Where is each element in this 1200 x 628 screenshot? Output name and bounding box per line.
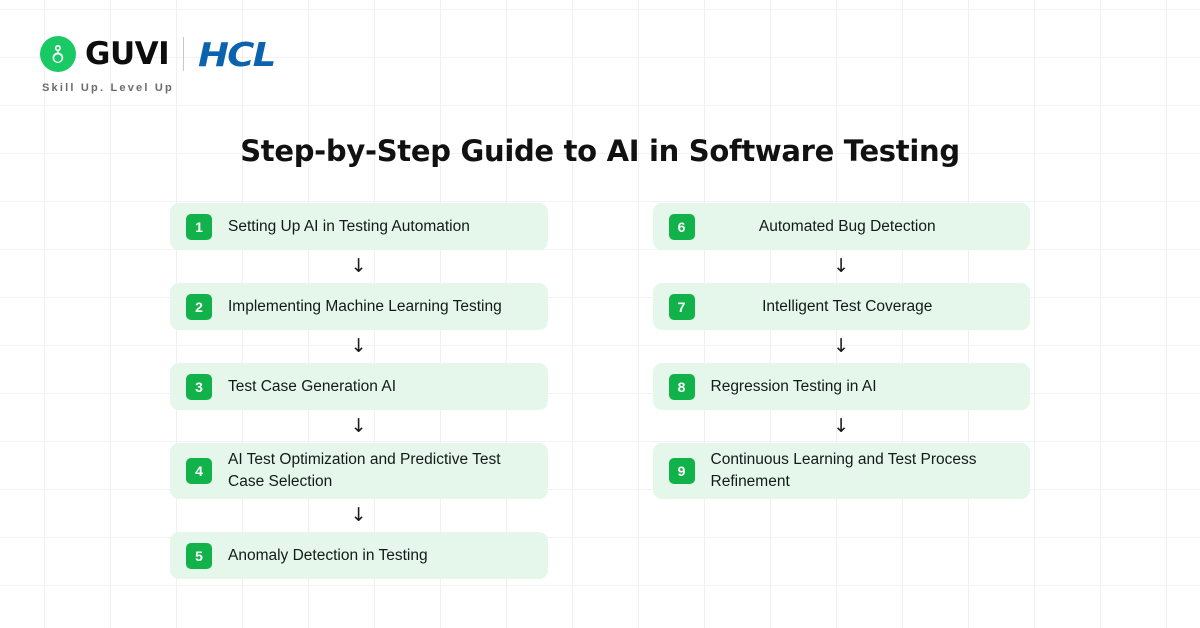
flow-column-left: 1 Setting Up AI in Testing Automation ↓ …	[170, 203, 548, 579]
flow-arrow-down-icon: ↓	[170, 330, 548, 363]
step-label: Test Case Generation AI	[228, 376, 396, 398]
step-label: AI Test Optimization and Predictive Test…	[228, 449, 534, 493]
step-card-7[interactable]: 7 Intelligent Test Coverage	[653, 283, 1031, 330]
brand-logo-bar: GUVI HCL Skill Up. Level Up	[40, 33, 267, 94]
step-label: Regression Testing in AI	[711, 376, 877, 398]
flow-arrow-down-icon: ↓	[653, 330, 1031, 363]
guvi-wordmark: GUVI	[85, 39, 169, 70]
step-card-9[interactable]: 9 Continuous Learning and Test Process R…	[653, 443, 1031, 499]
step-card-2[interactable]: 2 Implementing Machine Learning Testing	[170, 283, 548, 330]
flow-arrow-down-icon: ↓	[170, 499, 548, 532]
step-card-4[interactable]: 4 AI Test Optimization and Predictive Te…	[170, 443, 548, 499]
hcl-wordmark: HCL	[198, 38, 275, 71]
step-card-5[interactable]: 5 Anomaly Detection in Testing	[170, 532, 548, 579]
logo-row: GUVI HCL	[40, 33, 267, 75]
process-flow-diagram: 1 Setting Up AI in Testing Automation ↓ …	[170, 203, 1030, 579]
step-card-6[interactable]: 6 Automated Bug Detection	[653, 203, 1031, 250]
step-label: Anomaly Detection in Testing	[228, 545, 428, 567]
flow-arrow-down-icon: ↓	[653, 410, 1031, 443]
step-number-badge: 9	[669, 458, 695, 484]
step-card-3[interactable]: 3 Test Case Generation AI	[170, 363, 548, 410]
page-title: Step-by-Step Guide to AI in Software Tes…	[0, 134, 1200, 168]
step-number-badge: 6	[669, 214, 695, 240]
logo-divider	[183, 37, 184, 71]
step-number-badge: 3	[186, 374, 212, 400]
step-card-1[interactable]: 1 Setting Up AI in Testing Automation	[170, 203, 548, 250]
step-label: Automated Bug Detection	[705, 216, 991, 238]
flow-arrow-down-icon: ↓	[170, 250, 548, 283]
step-label: Setting Up AI in Testing Automation	[228, 216, 470, 238]
step-number-badge: 1	[186, 214, 212, 240]
step-label: Continuous Learning and Test Process Ref…	[711, 449, 1017, 493]
step-number-badge: 2	[186, 294, 212, 320]
brand-tagline: Skill Up. Level Up	[42, 82, 174, 94]
step-card-8[interactable]: 8 Regression Testing in AI	[653, 363, 1031, 410]
step-number-badge: 4	[186, 458, 212, 484]
flow-column-right: 6 Automated Bug Detection ↓ 7 Intelligen…	[653, 203, 1031, 579]
step-number-badge: 8	[669, 374, 695, 400]
step-number-badge: 7	[669, 294, 695, 320]
step-number-badge: 5	[186, 543, 212, 569]
flow-arrow-down-icon: ↓	[170, 410, 548, 443]
flow-arrow-down-icon: ↓	[653, 250, 1031, 283]
step-label: Implementing Machine Learning Testing	[228, 296, 502, 318]
step-label: Intelligent Test Coverage	[705, 296, 991, 318]
guvi-g-icon	[40, 36, 76, 72]
